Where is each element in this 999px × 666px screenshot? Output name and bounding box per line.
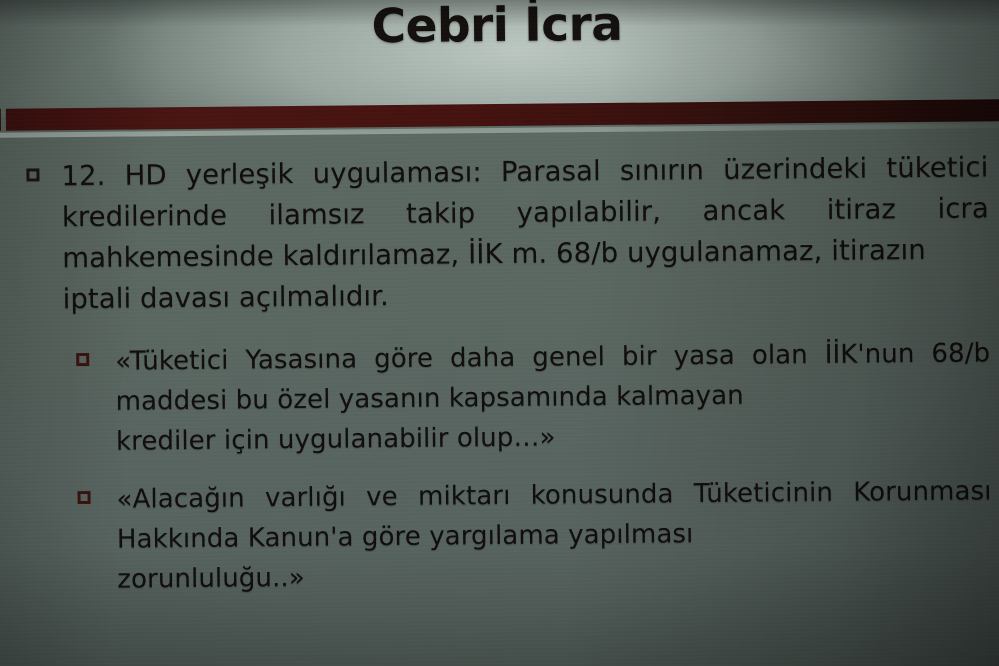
bullet-text-1-body: 12. HD yerleşik uygulaması: Parasal sını…	[61, 151, 988, 192]
projected-slide-photo: Cebri İcra 12. HD yerleşik uygulaması: P…	[0, 0, 999, 666]
bullet-text-1-lastline: iptali davası açılmalıdır.	[62, 270, 989, 320]
bullet-text-2-body: «Tüketici Yasasına göre daha genel bir y…	[115, 339, 915, 377]
sub-bullet-group: «Tüketici Yasasına göre daha genel bir y…	[76, 333, 992, 600]
bullet-text-1: 12. HD yerleşik uygulaması: Parasal sını…	[61, 147, 990, 320]
square-bullet-icon	[76, 353, 89, 366]
slide-body: 12. HD yerleşik uygulaması: Parasal sını…	[26, 147, 992, 618]
page-title: Cebri İcra	[0, 0, 999, 58]
bullet-text-3-body: «Alacağın varlığı ve miktarı konusunda T…	[116, 478, 833, 515]
divider-stub	[0, 109, 1, 131]
bullet-text-2: «Tüketici Yasasına göre daha genel bir y…	[115, 333, 991, 461]
bullet-text-3-lastline: zorunluluğu..»	[117, 551, 992, 599]
square-bullet-icon	[26, 168, 39, 181]
bullet-text-1-body-3: mahkemesinde kaldırılamaz, İİK m. 68/b u…	[62, 234, 926, 274]
square-bullet-icon	[77, 491, 90, 504]
bullet-item-2: «Tüketici Yasasına göre daha genel bir y…	[76, 333, 991, 462]
bullet-text-1-body-2: kredilerinde ilamsız takip yapılabilir, …	[62, 192, 989, 233]
slide-surface: Cebri İcra 12. HD yerleşik uygulaması: P…	[0, 0, 999, 666]
bullet-text-2-lastline: krediler için uygulanabilir olup…»	[116, 413, 991, 461]
bullet-item-3: «Alacağın varlığı ve miktarı konusunda T…	[77, 471, 992, 600]
bullet-item-1: 12. HD yerleşik uygulaması: Parasal sını…	[26, 147, 990, 320]
bullet-text-3: «Alacağın varlığı ve miktarı konusunda T…	[116, 471, 992, 599]
